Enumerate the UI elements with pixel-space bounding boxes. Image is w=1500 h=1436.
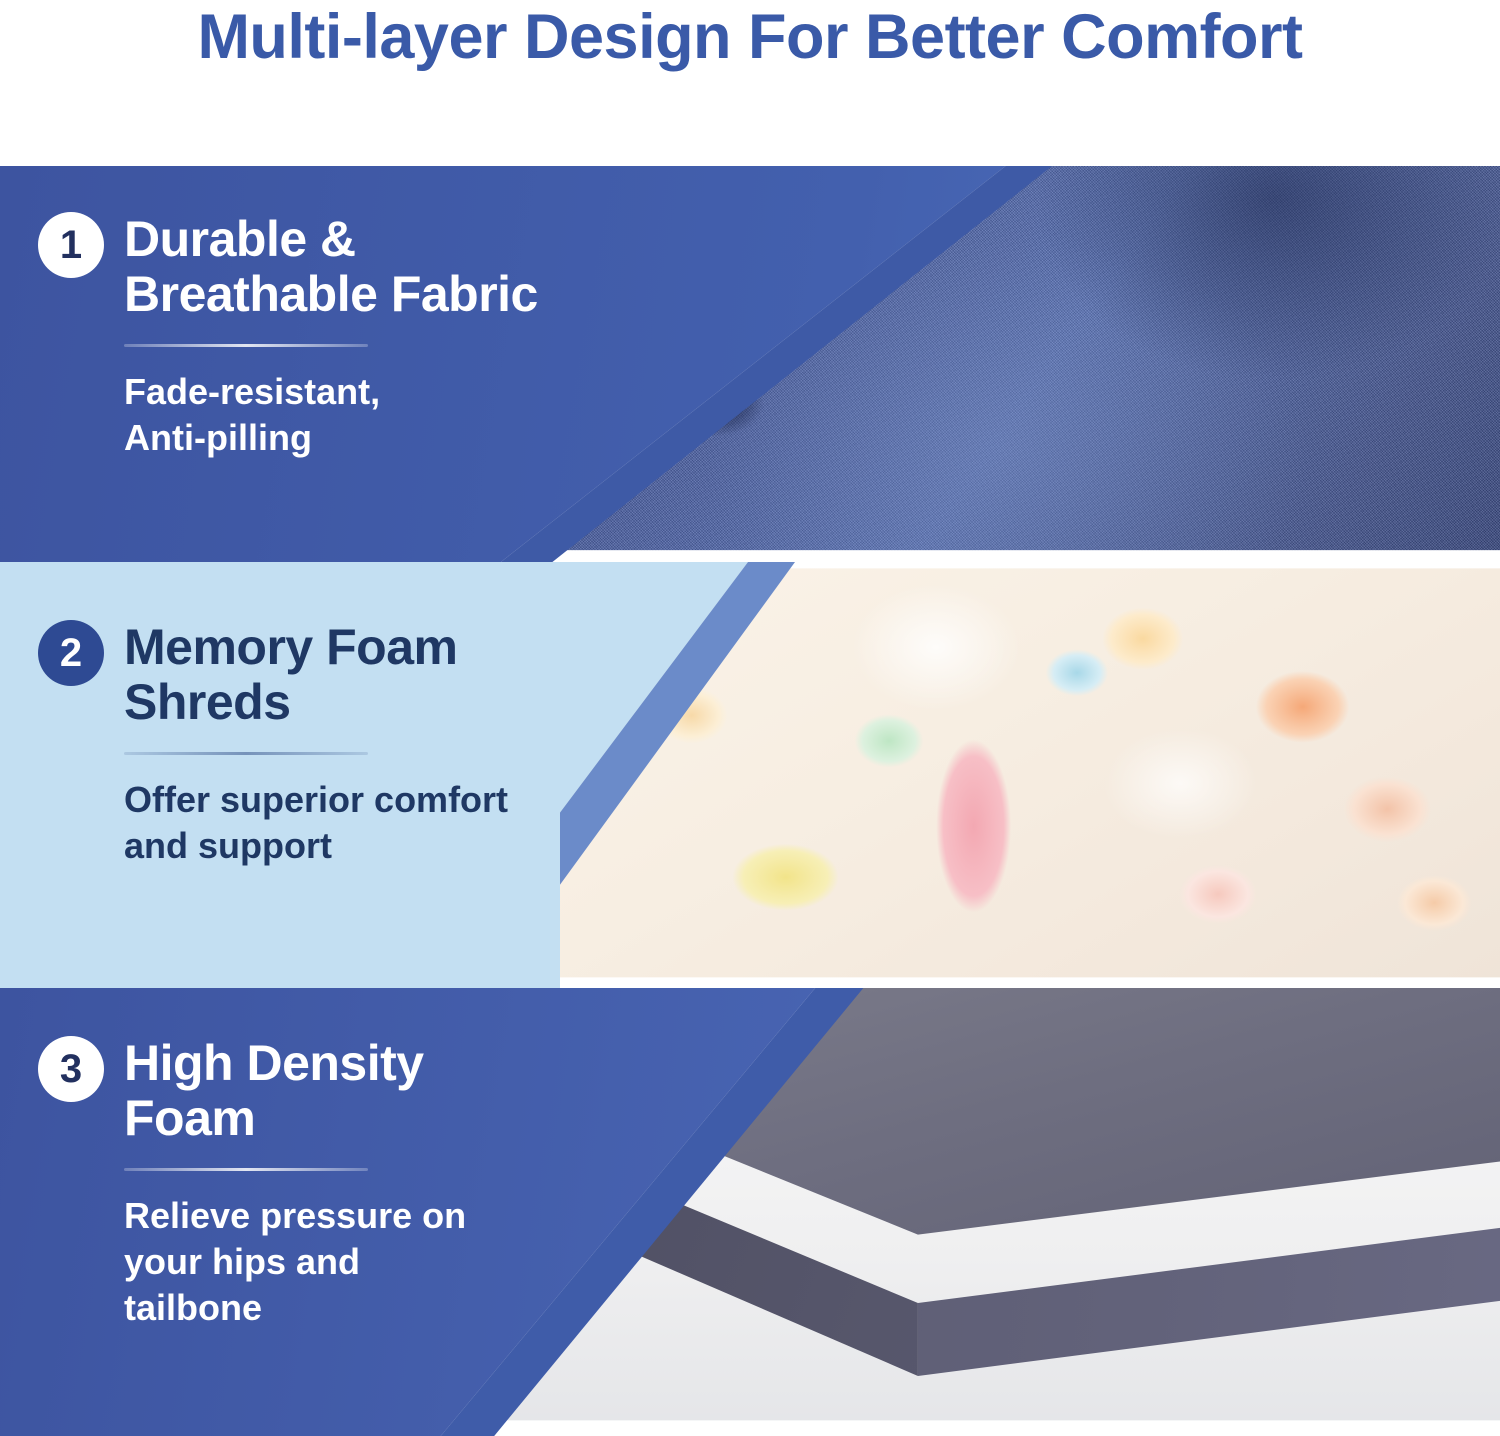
panel-3-sub-line-3: tailbone (124, 1285, 598, 1331)
feature-panel-2: 2 Memory Foam Shreds Offer superior comf… (0, 562, 1500, 988)
panel-2-subtext: Offer superior comfort and support (124, 777, 678, 869)
panel-1-subtext: Fade-resistant, Anti-pilling (124, 369, 678, 461)
panel-2-content: 2 Memory Foam Shreds Offer superior comf… (38, 620, 678, 869)
panel-1-heading-line-2: Breathable Fabric (124, 267, 538, 322)
panel-3-divider (124, 1168, 368, 1171)
panel-2-heading: Memory Foam Shreds (124, 620, 457, 730)
infographic-root: Multi-layer Design For Better Comfort 1 … (0, 0, 1500, 1436)
panel-2-heading-line-2: Shreds (124, 675, 457, 730)
step-number-badge-3: 3 (38, 1036, 104, 1102)
page-title: Multi-layer Design For Better Comfort (197, 0, 1302, 70)
panel-2-heading-line-1: Memory Foam (124, 620, 457, 675)
panel-2-sub-line-1: Offer superior comfort (124, 777, 678, 823)
step-number-badge-1: 1 (38, 212, 104, 278)
feature-panel-3: 3 High Density Foam Relieve pressure on … (0, 988, 1500, 1436)
panel-1-heading: Durable & Breathable Fabric (124, 212, 538, 322)
panel-1-heading-row: 1 Durable & Breathable Fabric (38, 212, 678, 322)
panel-2-divider (124, 752, 368, 755)
panel-1-sub-line-1: Fade-resistant, (124, 369, 678, 415)
panel-3-content: 3 High Density Foam Relieve pressure on … (38, 1036, 598, 1331)
panel-1-divider (124, 344, 368, 347)
panel-3-heading-row: 3 High Density Foam (38, 1036, 598, 1146)
panel-3-sub-line-1: Relieve pressure on (124, 1193, 598, 1239)
panel-3-sub-line-2: your hips and (124, 1239, 598, 1285)
panel-3-heading-line-1: High Density (124, 1036, 424, 1091)
title-bar: Multi-layer Design For Better Comfort (0, 0, 1500, 166)
panel-1-sub-line-2: Anti-pilling (124, 415, 678, 461)
panel-3-subtext: Relieve pressure on your hips and tailbo… (124, 1193, 598, 1331)
panel-3-heading: High Density Foam (124, 1036, 424, 1146)
panel-2-heading-row: 2 Memory Foam Shreds (38, 620, 678, 730)
panel-1-heading-line-1: Durable & (124, 212, 538, 267)
feature-panel-1: 1 Durable & Breathable Fabric Fade-resis… (0, 166, 1500, 562)
panel-2-sub-line-2: and support (124, 823, 678, 869)
panel-1-content: 1 Durable & Breathable Fabric Fade-resis… (38, 212, 678, 461)
step-number-badge-2: 2 (38, 620, 104, 686)
panel-3-heading-line-2: Foam (124, 1091, 424, 1146)
